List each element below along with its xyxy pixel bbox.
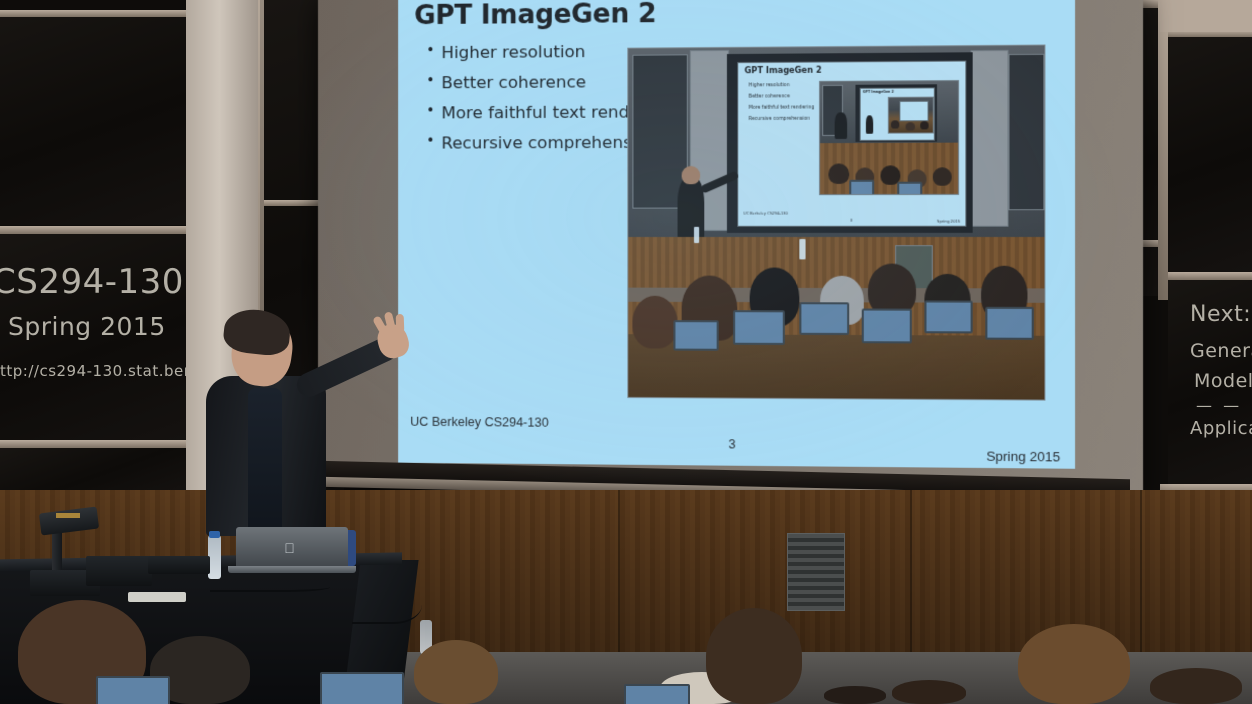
- chalkboard-rail: [0, 440, 190, 448]
- deep-audience-head: [920, 121, 928, 129]
- deep-speaker: [866, 115, 873, 133]
- nested-bullet: Better coherence: [749, 94, 790, 99]
- photo-chalkboard: [1008, 54, 1044, 210]
- nested-footer-left: UC Berkeley CS294-130: [743, 212, 787, 216]
- chalkboard-left-strip: [0, 448, 186, 494]
- nested-slide-title: GPT ImageGen 2: [744, 66, 821, 76]
- deep-slide-title: GPT ImageGen 2: [863, 90, 894, 94]
- deep-audience-head: [891, 120, 899, 128]
- audience-laptop: [96, 676, 170, 704]
- photo-bottle: [694, 227, 699, 243]
- presenter-shirt: [248, 388, 282, 536]
- wood-seam: [618, 490, 620, 670]
- chalk-next-label: Next:: [1190, 302, 1251, 327]
- slide-footer-right: Spring 2015: [986, 448, 1060, 464]
- chalkboard-rail: [1168, 272, 1252, 280]
- water-bottle-cap: [209, 531, 220, 538]
- apple-logo-icon: : [283, 541, 296, 556]
- nested-footer-page: 3: [850, 219, 852, 223]
- audience-head: [1018, 624, 1130, 704]
- audience-laptop: [624, 684, 690, 704]
- nested-bullet: More faithful text rendering: [749, 105, 815, 110]
- photo-audience-laptop: [673, 320, 718, 351]
- presenter-finger: [396, 314, 405, 333]
- wall-vent: [787, 533, 845, 611]
- desk-remote: [128, 592, 186, 602]
- slide-footer-left: UC Berkeley CS294-130: [410, 415, 548, 430]
- desk-equipment: [148, 556, 210, 574]
- slide-title: GPT ImageGen 2: [414, 0, 656, 31]
- nested-audience-head: [933, 167, 952, 185]
- photo-speaker-body: [678, 176, 705, 243]
- photo-projected-slide: GPT ImageGen 2 Higher resolution Better …: [737, 61, 966, 227]
- projection-screen: GPT ImageGen 2 Higher resolution Better …: [318, 0, 1143, 492]
- deep-embedded-photo: [888, 97, 934, 134]
- photo-audience-laptop: [862, 308, 912, 343]
- photo-audience-laptop: [985, 307, 1034, 340]
- chalk-next-models: Models: [1194, 370, 1252, 392]
- chalk-course-code: CS294-130: [0, 262, 184, 302]
- audience-laptop: [320, 672, 404, 704]
- photo-audience-head: [632, 296, 677, 349]
- chalk-term: Spring 2015: [8, 312, 166, 341]
- chalkboard-left-upper: [0, 10, 186, 225]
- nested-audience-laptop: [849, 180, 874, 195]
- nested-footer-right: Spring 2015: [937, 220, 960, 224]
- cable: [210, 580, 330, 592]
- slide-embedded-photo: GPT ImageGen 2 Higher resolution Better …: [627, 45, 1045, 401]
- nested-photo-hall: GPT ImageGen 2: [820, 81, 958, 194]
- audience-head: [1150, 668, 1242, 704]
- chalkboard-rail: [0, 10, 190, 17]
- photo-audience-laptop: [799, 302, 849, 335]
- photo-audience-laptop: [733, 310, 785, 345]
- chalkboard-right-upper: [1168, 34, 1252, 274]
- chalk-next-applications: Applications: [1190, 418, 1252, 439]
- audience-head: [414, 640, 498, 704]
- presenter: [186, 306, 401, 536]
- chalkboard-rail: [264, 200, 326, 206]
- photo-audience-laptop: [924, 300, 972, 333]
- slide-footer-page: 3: [729, 437, 736, 451]
- document-camera-label: [56, 513, 80, 518]
- nested-photo-speaker: [835, 112, 847, 139]
- presenter-laptop-base: [228, 566, 356, 573]
- deep-photo-hall: [889, 98, 933, 133]
- desk-equipment: [86, 556, 152, 586]
- nested-audience-head: [828, 163, 849, 183]
- nested-bullet: Recursive comprehension: [749, 117, 810, 122]
- nested-audience-laptop: [897, 182, 922, 195]
- wood-seam: [910, 490, 912, 670]
- nested-bullet: Higher resolution: [749, 83, 790, 88]
- photo-bottle: [799, 239, 805, 259]
- audience-head: [824, 686, 886, 704]
- power-cable: [352, 576, 422, 624]
- photo-pillar: [971, 50, 1009, 227]
- chalkboard-rail: [0, 226, 190, 234]
- audience-head: [706, 608, 802, 704]
- chalkboard-vertical-rail: [1158, 0, 1168, 300]
- projected-slide: GPT ImageGen 2 Higher resolution Better …: [398, 0, 1075, 469]
- deepest-slide: [899, 101, 928, 122]
- wall-above-board: [1160, 0, 1252, 32]
- chalk-separator: — —: [1196, 396, 1242, 415]
- wood-seam: [1140, 490, 1142, 670]
- deep-projected-slide: GPT ImageGen 2: [860, 87, 935, 141]
- chalk-next-generative: Generative: [1190, 340, 1252, 362]
- lecture-hall-scene: CS294-130 Spring 2015 http://cs294-130.s…: [0, 0, 1252, 704]
- photo-lecture-hall: GPT ImageGen 2 Higher resolution Better …: [628, 46, 1044, 400]
- audience-head: [892, 680, 966, 704]
- photo-speaker-head: [682, 166, 701, 184]
- nested-embedded-photo: GPT ImageGen 2: [819, 80, 959, 195]
- deep-audience-head: [906, 122, 915, 130]
